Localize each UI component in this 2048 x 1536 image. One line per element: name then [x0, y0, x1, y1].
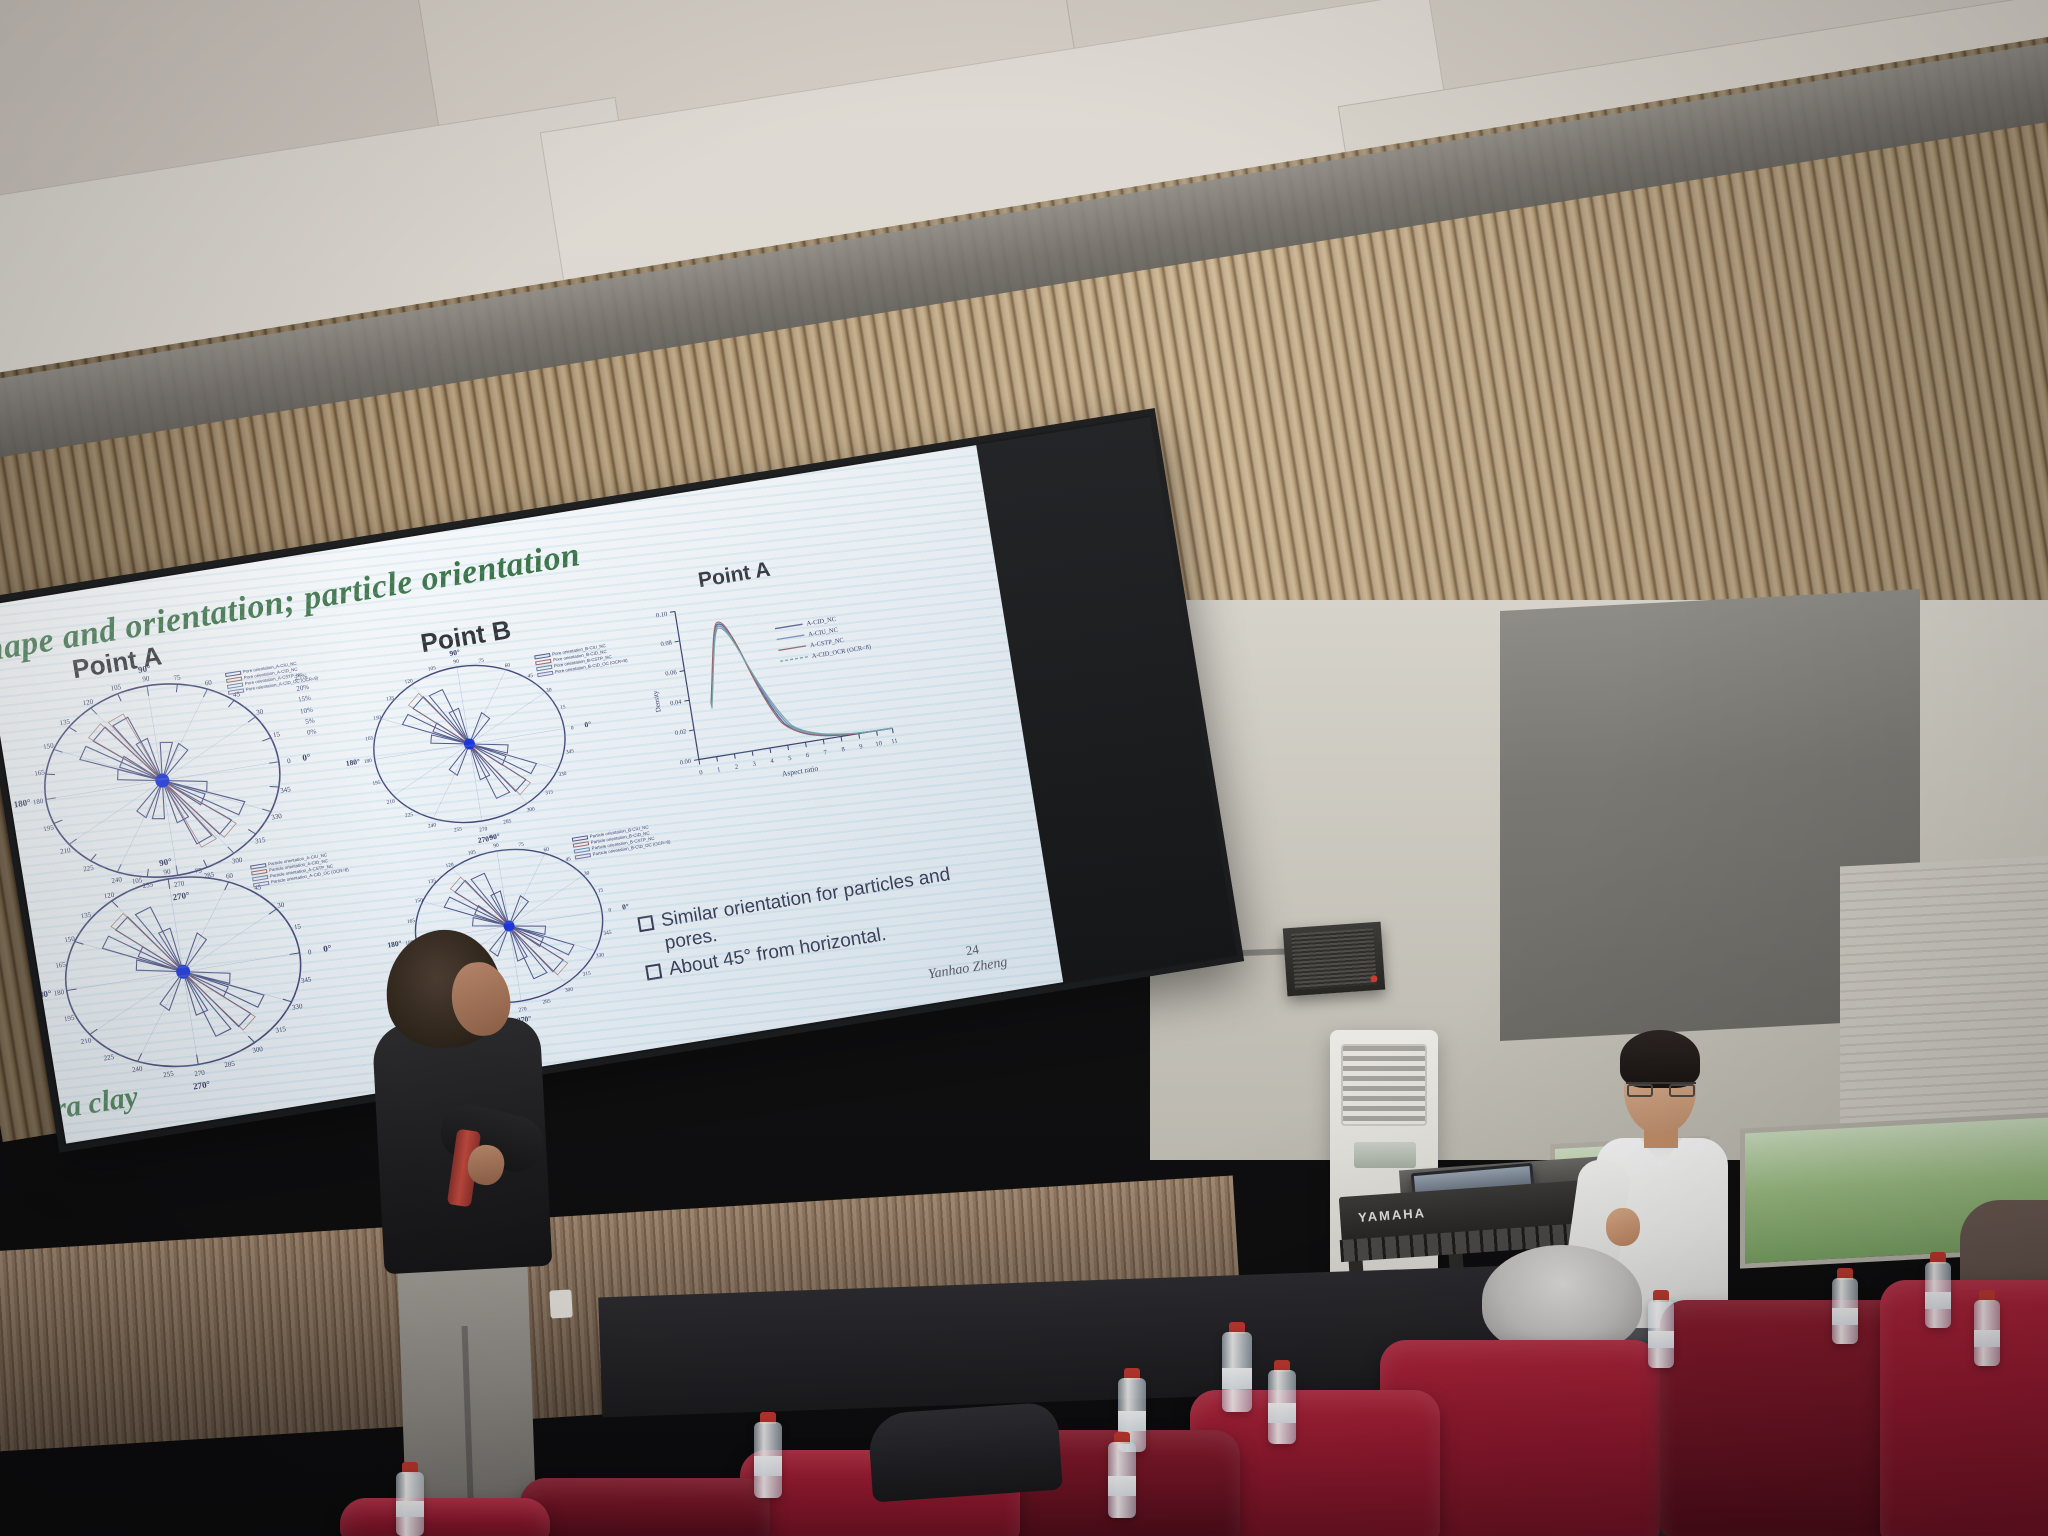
svg-text:45: 45 [565, 856, 572, 863]
svg-text:15: 15 [597, 887, 604, 894]
svg-text:0.08: 0.08 [660, 639, 672, 648]
svg-text:15: 15 [272, 730, 281, 739]
svg-text:A-CIU_NC: A-CIU_NC [808, 627, 839, 639]
svg-text:75: 75 [518, 842, 525, 849]
svg-text:300: 300 [252, 1045, 264, 1055]
ac-display-panel [1354, 1142, 1416, 1168]
svg-text:15: 15 [560, 704, 567, 711]
water-bottle[interactable] [1268, 1360, 1296, 1444]
svg-text:A-CID_NC: A-CID_NC [806, 616, 837, 628]
svg-text:180: 180 [363, 758, 372, 765]
svg-text:90°: 90° [137, 663, 151, 675]
svg-text:135: 135 [386, 695, 395, 702]
bottle-body [396, 1472, 424, 1536]
svg-text:345: 345 [300, 975, 312, 985]
auditorium-seat [1880, 1280, 2048, 1536]
density-chart-point-a: 0.00 0.02 0.04 0.06 0.08 0.10 Density [622, 565, 923, 820]
auditorium-seat [1660, 1300, 1910, 1536]
bottle-label [754, 1456, 782, 1476]
svg-text:8: 8 [841, 746, 845, 753]
svg-text:6: 6 [805, 752, 810, 760]
keyboard-brand-label: YAMAHA [1358, 1205, 1427, 1225]
svg-text:Aspect ratio: Aspect ratio [781, 764, 819, 779]
bottle-label [1222, 1368, 1252, 1389]
slide-author-name: Yanhao Zheng [927, 955, 1009, 984]
svg-text:255: 255 [454, 826, 463, 833]
svg-text:180°: 180° [387, 938, 403, 949]
svg-text:270: 270 [479, 826, 488, 833]
svg-text:5: 5 [788, 755, 792, 762]
svg-text:0.00: 0.00 [679, 758, 691, 767]
svg-text:0°: 0° [302, 752, 312, 763]
svg-text:300: 300 [526, 806, 535, 813]
svg-text:0.02: 0.02 [674, 728, 686, 737]
svg-text:255: 255 [163, 1070, 175, 1080]
svg-text:90°: 90° [449, 647, 461, 658]
bottle-body [1925, 1262, 1951, 1328]
bottle-label [1648, 1331, 1674, 1349]
svg-text:0: 0 [286, 757, 291, 766]
bottle-body [1648, 1300, 1674, 1368]
svg-text:60: 60 [204, 678, 213, 687]
svg-text:90°: 90° [489, 831, 501, 842]
auditorium-seat [520, 1478, 770, 1536]
svg-text:285: 285 [503, 818, 512, 825]
svg-text:225: 225 [103, 1053, 115, 1063]
svg-text:60: 60 [504, 662, 511, 669]
svg-text:0.06: 0.06 [665, 669, 678, 678]
svg-text:60: 60 [543, 847, 550, 854]
svg-text:120: 120 [82, 698, 94, 708]
svg-text:105: 105 [467, 849, 476, 856]
svg-text:9: 9 [859, 743, 863, 750]
person-hair [1482, 1245, 1642, 1355]
bottle-body [1974, 1300, 2000, 1366]
svg-text:270: 270 [518, 1006, 527, 1013]
svg-text:0.04: 0.04 [670, 698, 683, 707]
svg-text:60: 60 [225, 871, 234, 880]
svg-text:30: 30 [256, 708, 265, 717]
checkbox-icon [645, 964, 662, 981]
svg-text:0: 0 [608, 907, 612, 913]
svg-text:90: 90 [142, 674, 151, 683]
auditorium-seat [340, 1498, 550, 1536]
svg-text:330: 330 [271, 812, 283, 822]
bottle-body [1108, 1442, 1136, 1518]
svg-text:165: 165 [407, 918, 416, 925]
bottle-label [396, 1501, 424, 1518]
bag-on-desk [867, 1401, 1063, 1502]
svg-text:195: 195 [372, 780, 381, 787]
bottle-label [1925, 1292, 1951, 1309]
slide-page-number: 24 [965, 941, 980, 959]
glasses-lens [1669, 1084, 1695, 1097]
svg-text:135: 135 [428, 878, 437, 885]
svg-text:270: 270 [194, 1069, 206, 1079]
bottle-body [754, 1422, 782, 1498]
svg-text:180: 180 [32, 797, 44, 807]
axis-tick: 0% [303, 726, 317, 739]
water-bottle[interactable] [396, 1462, 424, 1536]
svg-text:10: 10 [875, 740, 883, 748]
svg-text:1: 1 [717, 766, 721, 773]
svg-text:30: 30 [277, 901, 286, 910]
svg-text:30: 30 [546, 687, 553, 694]
svg-text:0: 0 [699, 769, 703, 776]
svg-text:75: 75 [194, 866, 203, 875]
svg-text:75: 75 [478, 658, 485, 665]
water-bottle[interactable] [1974, 1290, 2000, 1366]
svg-text:345: 345 [280, 785, 292, 795]
slide-bullet-list: Similar orientation for particles and po… [637, 861, 975, 988]
water-bottle[interactable] [1108, 1432, 1136, 1518]
svg-text:0.10: 0.10 [655, 611, 667, 620]
svg-text:240: 240 [131, 1064, 143, 1074]
svg-text:15: 15 [293, 922, 302, 931]
svg-text:345: 345 [603, 930, 612, 937]
svg-text:Density: Density [651, 690, 662, 713]
glasses-icon [1626, 1082, 1696, 1095]
bottle-label [1832, 1308, 1858, 1325]
bottle-label [1108, 1476, 1136, 1496]
svg-text:0°: 0° [621, 902, 629, 912]
svg-text:11: 11 [891, 738, 898, 746]
svg-text:90: 90 [493, 843, 500, 850]
person-hand [1606, 1208, 1640, 1246]
svg-text:300: 300 [565, 987, 574, 994]
svg-text:3: 3 [752, 760, 756, 767]
person-hair [1620, 1030, 1700, 1088]
svg-text:315: 315 [582, 971, 591, 978]
svg-text:90: 90 [163, 867, 172, 876]
svg-text:330: 330 [558, 771, 567, 778]
svg-text:105: 105 [428, 665, 437, 672]
water-bottle[interactable] [1222, 1322, 1252, 1412]
wall-power-socket[interactable] [549, 1289, 572, 1318]
svg-text:4: 4 [770, 757, 775, 765]
checkbox-icon [637, 915, 654, 932]
svg-text:165: 165 [34, 768, 46, 778]
ac-vent-icon [1341, 1044, 1427, 1126]
glasses-lens [1627, 1084, 1653, 1097]
svg-text:210: 210 [386, 799, 395, 806]
bottle-body [1832, 1278, 1858, 1344]
water-bottle[interactable] [754, 1412, 782, 1498]
svg-text:0: 0 [570, 725, 574, 731]
svg-text:315: 315 [275, 1025, 287, 1035]
svg-text:0: 0 [307, 948, 312, 957]
svg-text:315: 315 [254, 836, 266, 846]
svg-text:180°: 180° [345, 757, 361, 768]
svg-text:105: 105 [110, 683, 122, 693]
svg-text:285: 285 [542, 998, 551, 1005]
svg-text:210: 210 [80, 1036, 92, 1046]
svg-text:180: 180 [53, 988, 65, 998]
bottle-body [1222, 1332, 1252, 1412]
svg-text:225: 225 [405, 812, 414, 819]
svg-text:165: 165 [55, 960, 67, 970]
svg-text:2: 2 [734, 763, 738, 770]
water-bottle[interactable] [1648, 1290, 1674, 1368]
svg-text:345: 345 [566, 748, 575, 755]
svg-text:105: 105 [131, 876, 143, 886]
bottle-label [1974, 1330, 2000, 1347]
svg-text:225: 225 [83, 864, 95, 874]
svg-text:0°: 0° [322, 943, 332, 954]
svg-text:210: 210 [60, 846, 72, 856]
bottle-label [1268, 1403, 1296, 1422]
svg-text:315: 315 [545, 789, 554, 796]
svg-text:90: 90 [453, 659, 460, 666]
svg-text:180°: 180° [13, 797, 32, 810]
svg-text:75: 75 [173, 673, 182, 682]
svg-text:165: 165 [365, 735, 374, 742]
svg-text:285: 285 [224, 1060, 236, 1070]
svg-text:330: 330 [291, 1002, 303, 1012]
water-bottle[interactable] [1832, 1268, 1858, 1344]
svg-text:240: 240 [428, 822, 437, 829]
bottle-label [1118, 1411, 1146, 1430]
svg-text:0°: 0° [584, 719, 592, 729]
lecture-hall-photo: YAMAHA e shape and orientation; particle… [0, 0, 2048, 1536]
bottle-body [1268, 1370, 1296, 1444]
window-blind [1840, 853, 2048, 1126]
rose-diagram-point-a-particle: 90105120 135150165 180195210 225240255 2… [33, 846, 333, 1096]
svg-text:270°: 270° [192, 1079, 211, 1092]
svg-text:7: 7 [823, 749, 828, 757]
svg-text:45: 45 [527, 673, 534, 680]
svg-text:A-CSTP_NC: A-CSTP_NC [810, 637, 845, 649]
svg-text:195: 195 [63, 1014, 75, 1024]
svg-text:90°: 90° [158, 856, 172, 868]
water-bottle[interactable] [1925, 1252, 1951, 1328]
svg-text:195: 195 [43, 824, 55, 834]
speaker-grill-icon [1291, 928, 1377, 990]
wall-speaker [1283, 922, 1386, 997]
svg-text:330: 330 [596, 952, 605, 959]
svg-text:30: 30 [584, 870, 591, 877]
